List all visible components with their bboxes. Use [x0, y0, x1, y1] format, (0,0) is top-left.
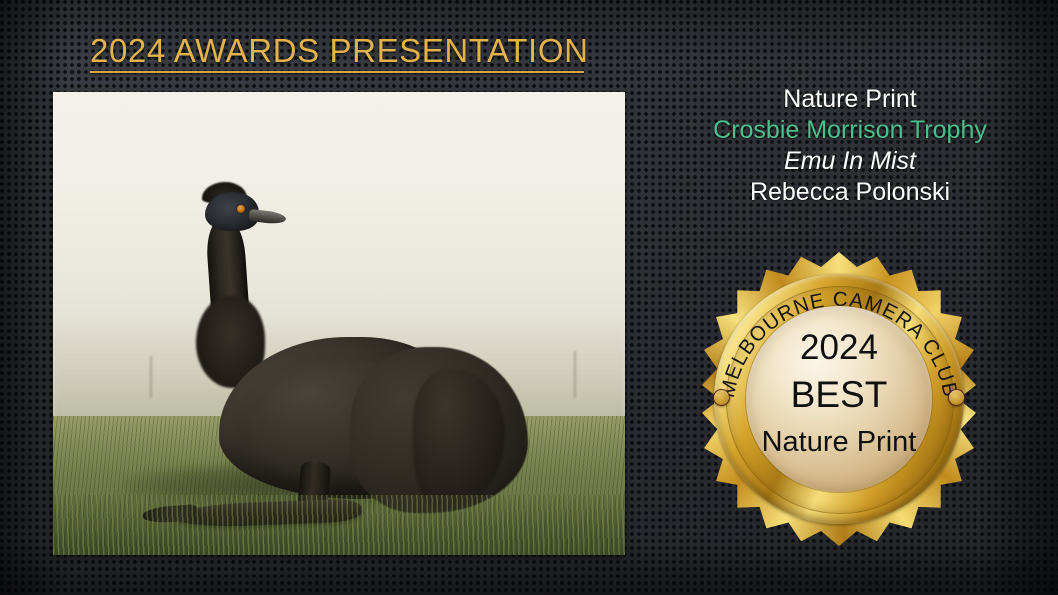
page-title: 2024 AWARDS PRESENTATION: [90, 31, 589, 71]
caption-photographer: Rebecca Polonski: [660, 177, 1040, 208]
caption-trophy: Crosbie Morrison Trophy: [660, 115, 1040, 146]
awards-presentation-slide: 2024 AWARDS PRESENTATION Nature Print Cr…: [0, 0, 1058, 595]
photo-fence-post: [150, 356, 152, 398]
badge-face: 2024 BEST Nature Print: [746, 306, 931, 491]
badge-year: 2024: [746, 329, 931, 367]
award-photo: [53, 92, 625, 555]
badge-category: Nature Print: [746, 426, 931, 458]
award-badge: MELBOURNE CAMERA CLUB 2024 BEST Nature P…: [692, 252, 986, 546]
photo-fence-post: [574, 351, 576, 397]
title-underline: [90, 71, 584, 73]
badge-award-label: BEST: [746, 375, 931, 415]
caption-image-title: Emu In Mist: [660, 146, 1040, 177]
award-caption: Nature Print Crosbie Morrison Trophy Emu…: [660, 84, 1040, 208]
caption-category: Nature Print: [660, 84, 1040, 115]
photo-foreground-grass: [53, 495, 625, 555]
